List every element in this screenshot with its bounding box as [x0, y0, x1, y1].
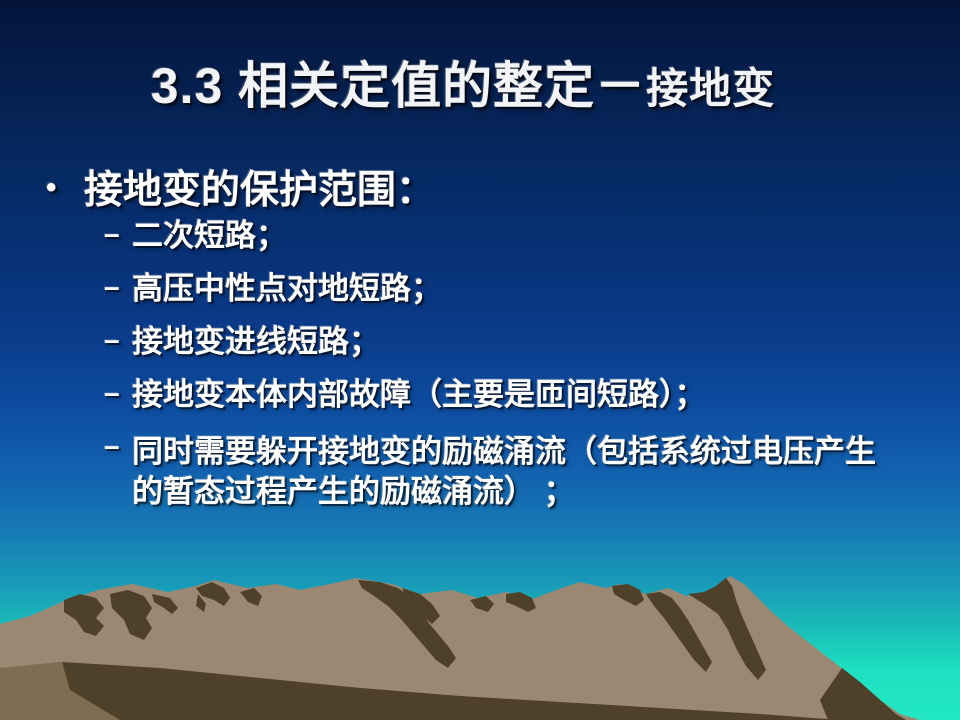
- bullet-level2-text: 高压中性点对地短路；: [132, 273, 892, 304]
- bullet-level2-text: 接地变本体内部故障（主要是匝间短路）；: [132, 379, 892, 410]
- bullet-dash-icon: –: [104, 379, 132, 407]
- slide-title: 3.3 相关定值的整定－接地变: [0, 58, 960, 116]
- slide-canvas: 3.3 相关定值的整定－接地变 • 接地变的保护范围： – 二次短路； – 高压…: [0, 0, 960, 720]
- slide-title-main: 3.3 相关定值的整定－: [151, 58, 646, 114]
- bullet-level2-item: – 接地变进线短路；: [104, 326, 936, 357]
- bullet-dot-icon: •: [46, 168, 84, 209]
- bullet-level2-item: – 高压中性点对地短路；: [104, 273, 936, 304]
- bullet-dash-icon: –: [104, 273, 132, 301]
- slide-title-tail: 接地变: [646, 65, 775, 112]
- mountain-slope-mid: [0, 662, 860, 720]
- bullet-level2-item: – 同时需要躲开接地变的励磁涌流（包括系统过电压产生的暂态过程产生的励磁涌流） …: [104, 432, 936, 511]
- mountain-shadows: [62, 578, 906, 720]
- bullet-level2-text: 同时需要躲开接地变的励磁涌流（包括系统过电压产生的暂态过程产生的励磁涌流） ；: [132, 432, 892, 511]
- bullet-level2-text: 接地变进线短路；: [132, 326, 892, 357]
- bullet-level2-text: 二次短路；: [132, 220, 892, 251]
- bullet-dash-icon: –: [104, 326, 132, 354]
- slide-body: • 接地变的保护范围： – 二次短路； – 高压中性点对地短路； – 接地变进线…: [46, 168, 936, 533]
- bullet-level2-list: – 二次短路； – 高压中性点对地短路； – 接地变进线短路； – 接地变本体内…: [46, 220, 936, 511]
- bullet-level1: • 接地变的保护范围：: [46, 168, 936, 214]
- bullet-dash-icon: –: [104, 432, 132, 460]
- bullet-dash-icon: –: [104, 220, 132, 248]
- slide-title-text: 3.3 相关定值的整定－接地变: [151, 58, 775, 116]
- bullet-level2-item: – 接地变本体内部故障（主要是匝间短路）；: [104, 379, 936, 410]
- bullet-level2-item: – 二次短路；: [104, 220, 936, 251]
- mountain-scenery: [0, 550, 960, 720]
- mountain-ridge-light: [0, 576, 920, 720]
- bullet-level1-text: 接地变的保护范围：: [84, 168, 936, 214]
